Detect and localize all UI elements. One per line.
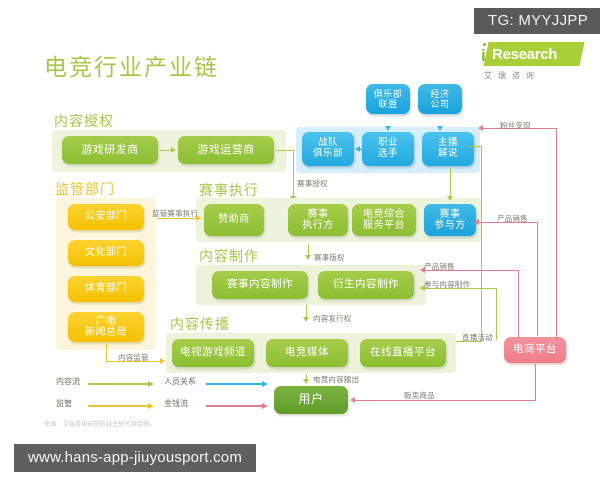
node-club-league[interactable]: 俱乐部 联盟 — [366, 84, 410, 114]
label-fan-monetization: 粉丝变现 — [500, 120, 531, 131]
arrow-host-to-participant — [447, 196, 453, 201]
arrow-player-to-club — [355, 146, 360, 152]
arrow-product-sales-upper — [474, 219, 479, 225]
line-live-events-top — [468, 146, 482, 147]
legend-line-money-flow — [206, 405, 262, 407]
node-sports-dept[interactable]: 体育部门 — [68, 276, 144, 302]
line-product-sales-upper-v — [537, 222, 538, 336]
node-event-content-production[interactable]: 赛事内容制作 — [212, 271, 308, 299]
line-fan-monetization-v — [556, 128, 557, 340]
legend-line-personnel-relation — [206, 383, 262, 385]
legend-line-content-flow — [88, 383, 148, 385]
legend-arrow-content-flow — [148, 381, 154, 387]
iresearch-logo: i Research 艾瑞咨询 — [478, 42, 586, 86]
node-sponsor[interactable]: 赞助商 — [204, 204, 264, 236]
source-note: 来源：艾瑞咨询研究院自主研究及绘制。 — [44, 419, 156, 428]
node-pro-player[interactable]: 职业 选手 — [362, 132, 414, 166]
label-join-content-production: 参与内容制作 — [424, 279, 470, 290]
group-label-content-license: 内容授权 — [54, 111, 114, 131]
node-agency-company[interactable]: 经济 公司 — [418, 84, 462, 114]
label-product-sales-upper: 产品销售 — [497, 213, 528, 224]
arrow-content-distribution-right — [303, 317, 309, 322]
group-label-content-distribution: 内容传播 — [170, 314, 230, 334]
logo-letter: i — [481, 47, 486, 64]
arrow-content-output — [303, 379, 309, 384]
line-join-content-production-v — [496, 288, 497, 340]
group-label-content-production: 内容制作 — [199, 246, 259, 266]
logo-word: Research — [492, 46, 557, 63]
node-esports-media[interactable]: 电竞媒体 — [266, 339, 348, 367]
legend: 内容流 人员关系 监管 金钱流 — [56, 376, 266, 412]
node-public-security[interactable]: 公安部门 — [68, 204, 144, 230]
node-event-participant[interactable]: 赛事 参与方 — [424, 204, 476, 236]
tg-watermark: TG: MYYJJPP — [474, 8, 600, 34]
line-product-sales-lower-v — [518, 270, 519, 338]
line-live-events-v — [481, 146, 482, 341]
label-content-distribution-right: 内容发行权 — [313, 313, 352, 324]
arrow-sell-goods — [350, 397, 355, 403]
node-game-developer[interactable]: 游戏研发商 — [62, 136, 158, 164]
label-esports-content-output: 电竞内容输出 — [313, 374, 359, 385]
logo-mark: i Research — [478, 42, 582, 68]
label-regulate-event-execution: 监管赛事执行 — [152, 208, 198, 219]
legend-label-money-flow: 金钱流 — [164, 398, 188, 409]
node-game-operator[interactable]: 游戏运营商 — [178, 136, 274, 164]
legend-label-content-flow: 内容流 — [56, 376, 80, 387]
arrow-league-to-player — [385, 126, 391, 131]
group-label-event-participation: 赛事参与 — [299, 105, 359, 125]
logo-chinese: 艾瑞咨询 — [484, 70, 540, 81]
page-title: 电竞行业产业链 — [44, 48, 219, 82]
diagram-canvas: TG: MYYJJPP www.hans-app-jiuyousport.com… — [0, 0, 600, 480]
node-esports-platform-service[interactable]: 电竞综合 服务平台 — [352, 204, 416, 236]
node-esports-platform[interactable]: 电商平台 — [504, 337, 566, 363]
group-label-event-execution: 赛事执行 — [199, 180, 259, 200]
legend-line-regulation — [88, 405, 148, 407]
line-operator-right — [276, 150, 294, 151]
legend-arrow-money-flow — [262, 403, 268, 409]
label-content-regulation: 内容监管 — [118, 352, 149, 363]
legend-arrow-regulation — [148, 403, 154, 409]
arrow-developer-to-operator — [171, 147, 176, 153]
group-label-regulators: 监管部门 — [55, 179, 115, 199]
line-content-regulation-v — [106, 344, 107, 362]
node-culture-dept[interactable]: 文化部门 — [68, 240, 144, 266]
node-sarft[interactable]: 广电 新闻总局 — [68, 312, 144, 342]
line-operator-down — [293, 150, 294, 198]
arrow-content-regulation — [160, 358, 165, 364]
node-tv-game-channel[interactable]: 电视游戏频道 — [172, 339, 254, 367]
label-live-events: 直播活动 — [462, 332, 493, 343]
legend-label-personnel-relation: 人员关系 — [164, 376, 196, 387]
url-watermark: www.hans-app-jiuyousport.com — [14, 444, 256, 472]
node-online-live-platform[interactable]: 在线直播平台 — [360, 339, 446, 367]
line-sell-goods — [352, 400, 535, 401]
node-derivative-content-production[interactable]: 衍生内容制作 — [318, 271, 414, 299]
node-users[interactable]: 用户 — [274, 386, 348, 414]
node-host-caster[interactable]: 主播 解说 — [422, 132, 474, 166]
label-event-authorization: 赛事授权 — [297, 178, 328, 189]
label-event-copyright: 赛事版权 — [314, 252, 345, 263]
legend-label-regulation: 监管 — [56, 398, 72, 409]
node-team-club[interactable]: 战队 俱乐部 — [302, 132, 354, 166]
arrow-fan-monetization — [478, 125, 483, 131]
label-product-sales-lower: 产品销售 — [424, 261, 455, 272]
arrow-event-copyright — [305, 255, 311, 260]
legend-arrow-personnel-relation — [262, 381, 268, 387]
node-event-executor[interactable]: 赛事 执行方 — [288, 204, 348, 236]
line-sell-goods-v — [535, 364, 536, 401]
line-host-to-participant — [450, 168, 451, 198]
arrow-agency-to-host — [437, 126, 443, 131]
label-sell-goods: 贩卖商品 — [404, 390, 435, 401]
